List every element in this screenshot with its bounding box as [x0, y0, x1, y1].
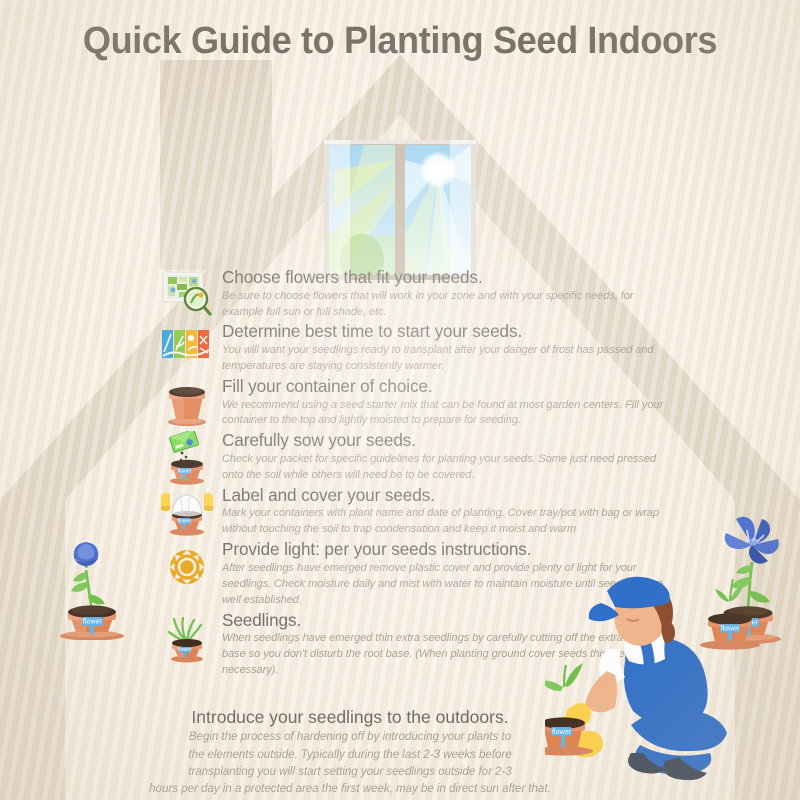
seed-packet-sowing-icon: flower	[160, 431, 214, 485]
step-item[interactable]: flower Carefully sow your seeds. Check y…	[160, 431, 680, 483]
sun-light-icon	[160, 540, 214, 594]
pot-tag-label: flower	[83, 617, 103, 626]
footer-line-2: the elements outside. Typically during t…	[188, 749, 511, 761]
gardener-cap	[607, 577, 670, 609]
footer-description: Begin the process of hardening off by in…	[110, 729, 590, 798]
sunny-window	[324, 140, 476, 280]
step-item[interactable]: Choose flowers that fit your needs. Be s…	[160, 268, 680, 320]
step-description: Mark your containers with plant name and…	[222, 506, 674, 538]
footer-title: Introduce your seedlings to the outdoors…	[110, 708, 590, 727]
footer-block: Introduce your seedlings to the outdoors…	[110, 708, 590, 798]
step-description: Check your packet for specific guideline…	[222, 452, 674, 484]
pot-tag-label: flower	[721, 625, 740, 632]
step-item[interactable]: flower Label and cover your seeds. Mark …	[160, 486, 680, 538]
step-description: We recommend using a seed starter mix th…	[222, 398, 674, 430]
step-item[interactable]: Fill your container of choice. We recomm…	[160, 377, 680, 429]
pot-tag-label: flower	[178, 518, 192, 524]
pot-with-soil-icon	[160, 377, 214, 431]
footer-line-3: transplanting you will start setting you…	[188, 766, 511, 778]
seedling-pot-icon: flower	[160, 611, 214, 665]
pot-tag-label: flower	[178, 469, 192, 475]
footer-line-4: hours per day in a protected area the fi…	[70, 781, 630, 798]
step-title: Determine best time to start your seeds.	[222, 322, 671, 342]
glove-right-icon	[204, 492, 213, 511]
page-title: Quick Guide to Planting Seed Indoors	[20, 20, 780, 63]
potted-flower-left: flower	[40, 520, 144, 640]
step-title: Carefully sow your seeds.	[222, 431, 671, 451]
gardener-arm	[585, 671, 617, 713]
footer-line-1: Begin the process of hardening off by in…	[189, 731, 511, 743]
step-item[interactable]: Determine best time to start your seeds.…	[160, 322, 680, 374]
step-title: Provide light: per your seeds instructio…	[222, 540, 671, 560]
pot-tag-label: flower	[178, 647, 192, 653]
step-title: Label and cover your seeds.	[222, 486, 671, 506]
glove-left-icon	[161, 492, 170, 511]
step-description: You will want your seedlings ready to tr…	[222, 343, 674, 375]
gloves-covered-pot-icon: flower	[160, 486, 214, 540]
seasons-calendar-icon	[160, 322, 214, 376]
step-title: Fill your container of choice.	[222, 377, 671, 397]
step-description: Be sure to choose flowers that will work…	[222, 289, 674, 321]
infographic-poster: Quick Guide to Planting Seed Indoors	[0, 0, 800, 800]
seed-catalog-magnifier-icon	[160, 268, 214, 322]
step-title: Choose flowers that fit your needs.	[222, 268, 671, 288]
background-seedling-pot: flower	[700, 579, 760, 650]
